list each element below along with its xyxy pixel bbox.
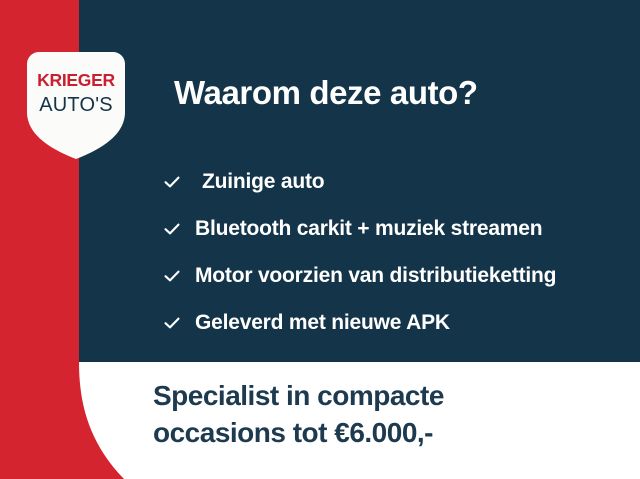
list-item: Bluetooth carkit + muziek streamen (163, 205, 633, 252)
tagline-line-2: occasions tot €6.000,- (153, 415, 444, 452)
feature-label: Geleverd met nieuwe APK (195, 311, 450, 335)
page-title: Waarom deze auto? (174, 75, 478, 111)
check-icon (163, 267, 181, 285)
shield-icon (27, 52, 125, 159)
check-icon (163, 220, 181, 238)
feature-label: Motor voorzien van distributieketting (195, 264, 556, 288)
tagline-line-1: Specialist in compacte (153, 378, 444, 415)
list-item: Geleverd met nieuwe APK (163, 299, 633, 346)
tagline: Specialist in compacte occasions tot €6.… (153, 378, 444, 452)
promo-banner: KRIEGER AUTO'S Waarom deze auto? Zuinige… (0, 0, 640, 479)
red-curved-wedge (0, 362, 130, 479)
list-item: Zuinige auto (163, 158, 633, 205)
feature-label: Bluetooth carkit + muziek streamen (195, 217, 542, 241)
list-item: Motor voorzien van distributieketting (163, 252, 633, 299)
feature-label: Zuinige auto (202, 170, 324, 194)
check-icon (163, 173, 181, 191)
feature-list: Zuinige auto Bluetooth carkit + muziek s… (163, 158, 633, 346)
check-icon (163, 314, 181, 332)
